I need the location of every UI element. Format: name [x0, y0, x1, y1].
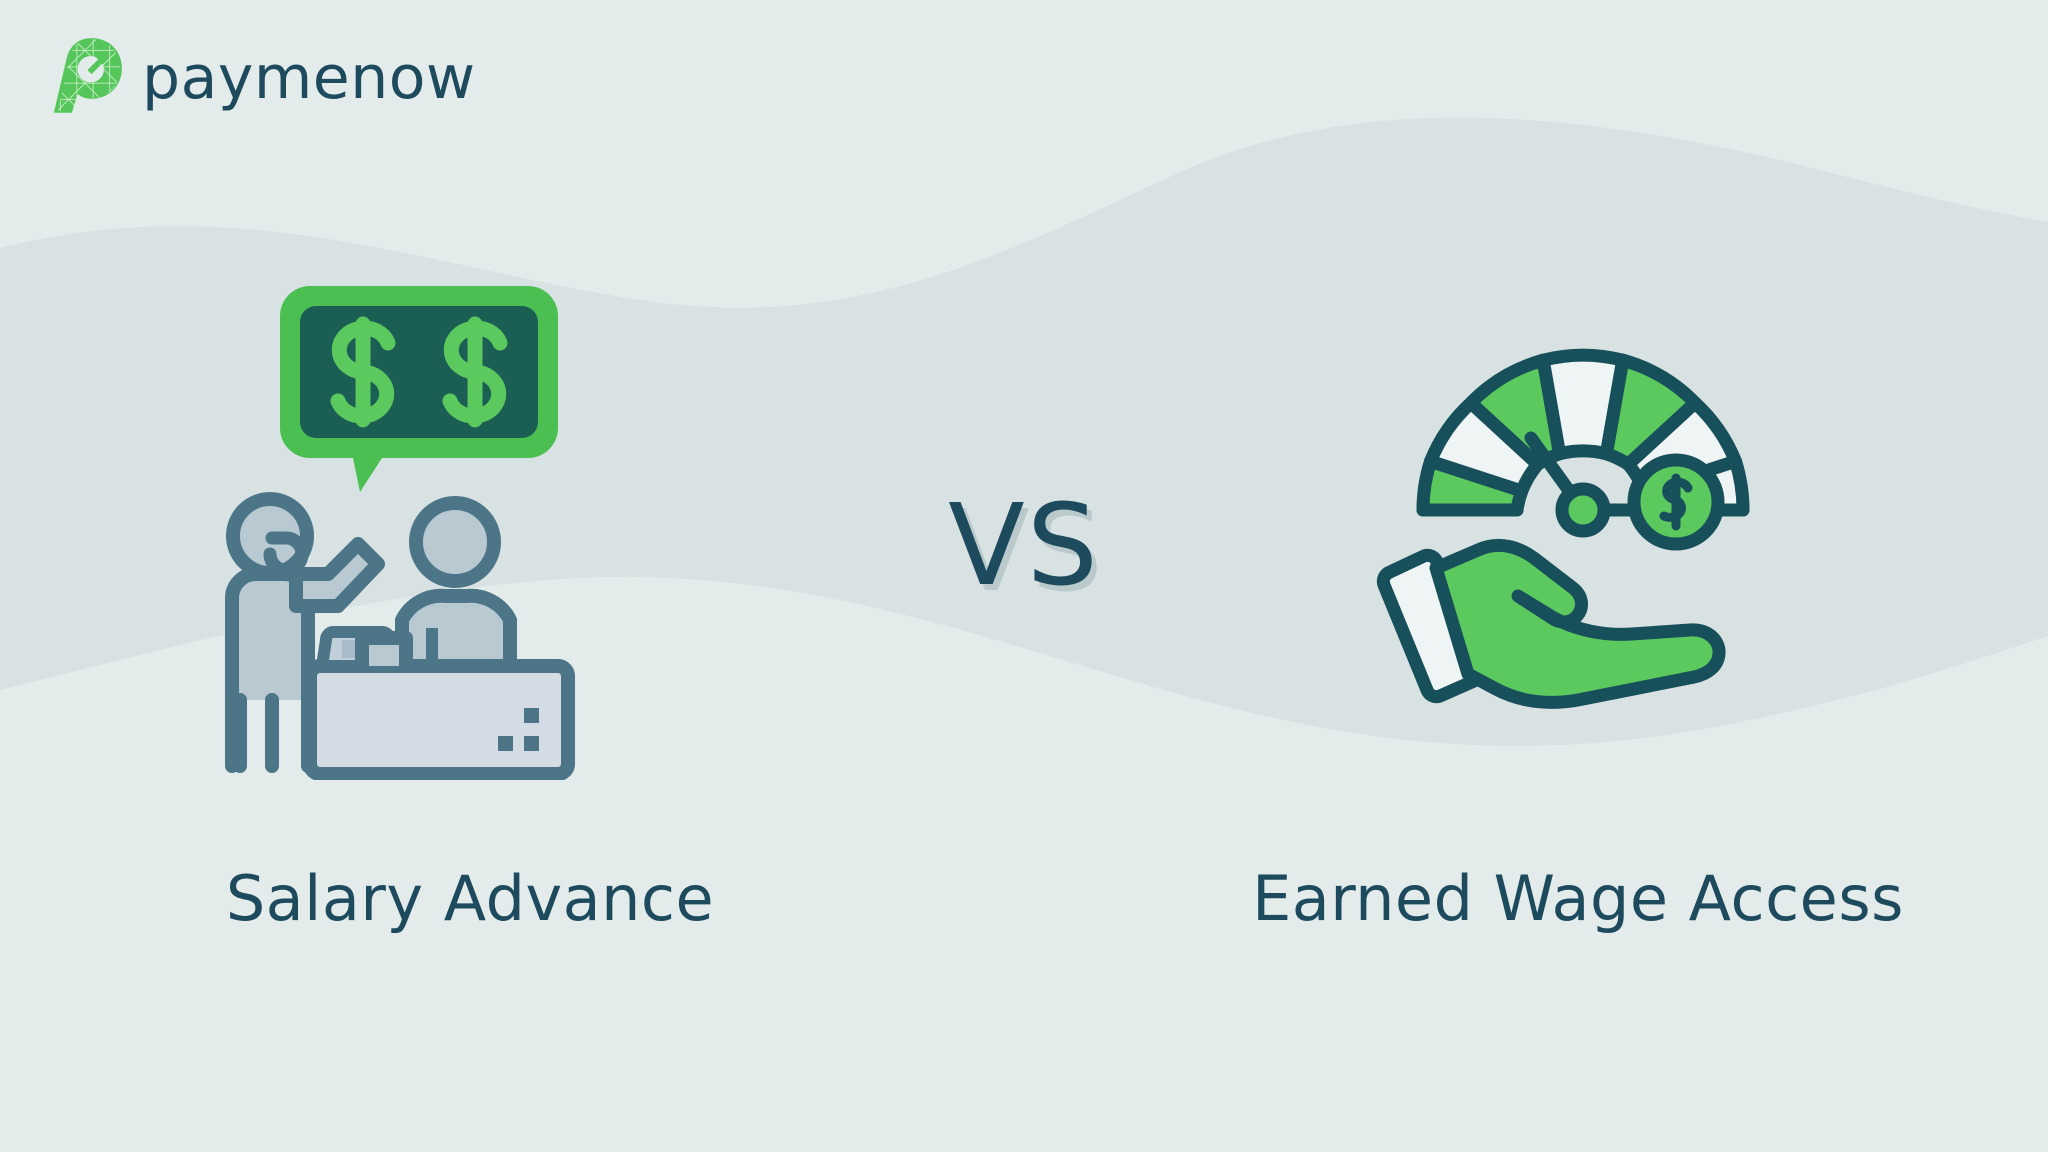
dollar-speech-bubble-icon	[280, 286, 558, 492]
left-caption: Salary Advance	[0, 862, 940, 935]
earned-wage-access-illustration	[1368, 300, 1798, 710]
open-hand-icon	[1383, 545, 1719, 702]
right-caption: Earned Wage Access	[1108, 862, 2048, 935]
graphic-canvas: paymenow	[0, 0, 2048, 1152]
dollar-coin-icon	[1634, 460, 1718, 544]
right-comparison-column: Earned Wage Access	[1108, 0, 2048, 1152]
